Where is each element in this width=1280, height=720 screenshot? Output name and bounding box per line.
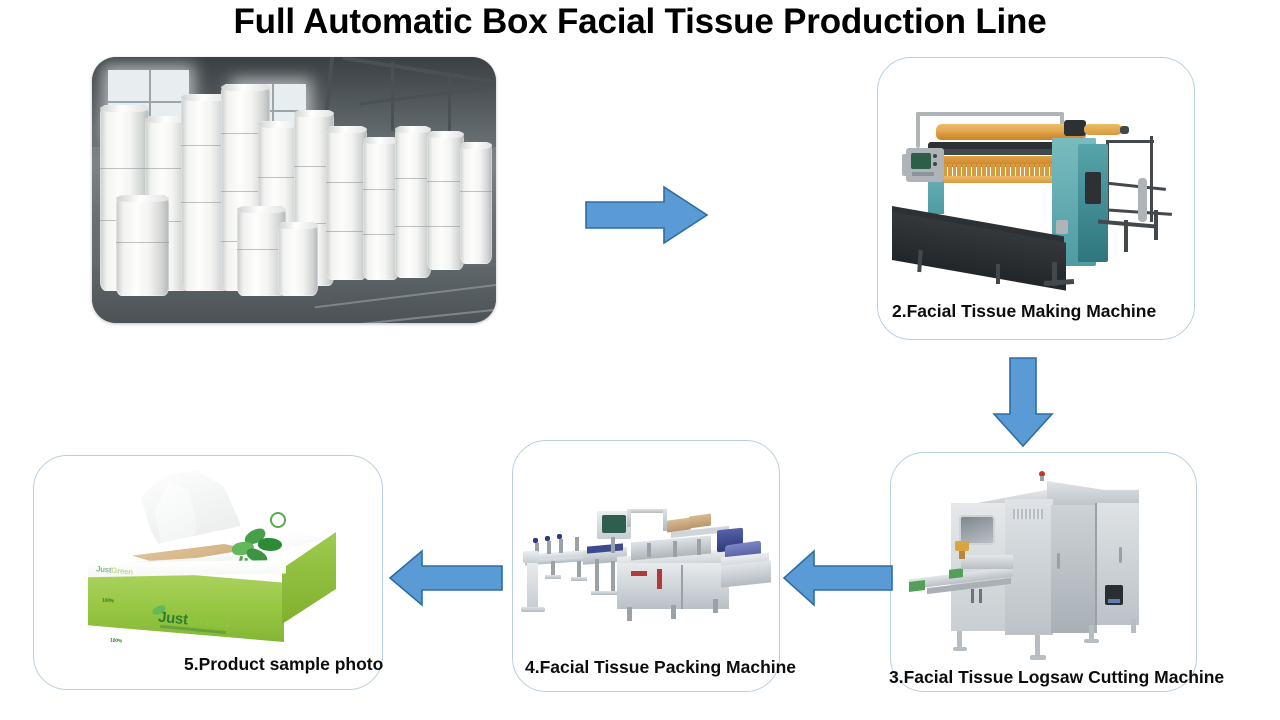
badge-100-percent-upper: 100% <box>102 597 114 604</box>
arrow-step2-to-step3 <box>990 356 1056 448</box>
badge-100-percent-lower: 100% <box>110 637 122 644</box>
step-1-jumbo-roll-panel[interactable]: 1.Jumbo Roll <box>92 57 496 323</box>
step-3-logsaw-panel[interactable]: 3.Facial Tissue Logsaw Cutting Machine <box>890 452 1197 692</box>
step-4-packing-machine-panel[interactable]: 4.Facial Tissue Packing Machine <box>512 440 780 692</box>
arrow-step4-to-step5 <box>388 548 504 608</box>
tissue-making-machine-illustration <box>892 92 1182 288</box>
justgreen-tissue-box-photo: JustGreen JustGreen 100% 100% <box>74 470 354 660</box>
logsaw-cutting-machine-illustration <box>909 467 1177 663</box>
page-title: Full Automatic Box Facial Tissue Product… <box>0 2 1280 42</box>
step-4-label: 4.Facial Tissue Packing Machine <box>525 657 796 678</box>
arrow-step1-to-step2 <box>584 184 710 246</box>
step-5-product-sample-panel[interactable]: JustGreen JustGreen 100% 100% 5.Product … <box>33 455 383 690</box>
warehouse-photo <box>92 57 496 323</box>
step-2-making-machine-panel[interactable]: 2.Facial Tissue Making Machine <box>877 57 1195 340</box>
step-3-label: 3.Facial Tissue Logsaw Cutting Machine <box>889 667 1224 688</box>
production-line-diagram: Full Automatic Box Facial Tissue Product… <box>0 0 1280 720</box>
arrow-step3-to-step4 <box>782 548 894 608</box>
step-2-label: 2.Facial Tissue Making Machine <box>892 301 1156 322</box>
packing-machine-illustration <box>521 503 773 623</box>
step-5-label: 5.Product sample photo <box>184 654 383 675</box>
